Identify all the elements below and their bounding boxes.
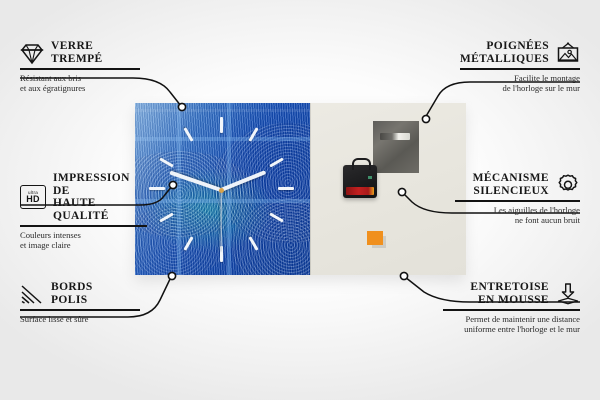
diamond-icon <box>20 41 44 65</box>
feature-divider <box>455 200 580 202</box>
feature-divider <box>20 309 140 311</box>
feature-header: ultra HD IMPRESSION DE HAUTE QUALITÉ <box>20 172 147 222</box>
diagonal-lines-icon <box>20 282 44 306</box>
hour-marker <box>183 127 193 141</box>
feature-desc-line1: Permet de maintenir une distance <box>443 314 580 324</box>
feature-header: POIGNÉES MÉTALLIQUES <box>460 40 580 65</box>
ultra-hd-badge-main: HD <box>26 195 39 204</box>
gear-icon <box>556 173 580 197</box>
feature-entretoise-en-mousse: ENTRETOISE EN MOUSSE Permet de maintenir… <box>443 281 580 334</box>
feature-desc-line2: et aux égratignures <box>20 83 140 93</box>
feature-title-line2: TREMPÉ <box>51 53 103 66</box>
feature-divider <box>20 225 147 227</box>
feature-title-line1: POIGNÉES <box>460 40 549 53</box>
feature-divider <box>20 68 140 70</box>
feature-divider <box>460 68 580 70</box>
movement-terminal <box>368 176 372 179</box>
hour-hand <box>220 170 266 192</box>
feature-title-line1: VERRE <box>51 40 103 53</box>
feature-header: ENTRETOISE EN MOUSSE <box>443 281 580 306</box>
feature-mecanisme-silencieux: MÉCANISME SILENCIEUX Les aiguilles de l'… <box>455 172 580 225</box>
feature-desc-line1: Les aiguilles de l'horloge <box>455 205 580 215</box>
clock-dial <box>135 103 310 275</box>
feature-title-line2: EN MOUSSE <box>470 294 549 307</box>
clock-front-panel <box>135 103 310 275</box>
feature-title-line2: SILENCIEUX <box>473 185 549 198</box>
hour-marker <box>278 187 294 190</box>
foam-spacer <box>367 231 383 245</box>
feature-title-line1: ENTRETOISE <box>470 281 549 294</box>
feature-title-line1: BORDS <box>51 281 93 294</box>
hanging-loop <box>352 158 371 170</box>
arrow-down-stack-icon <box>556 282 580 306</box>
feature-divider <box>443 309 580 311</box>
metal-hanger-plate <box>373 121 419 173</box>
minute-hand <box>169 171 221 192</box>
hour-marker <box>183 236 193 250</box>
hour-marker <box>159 157 173 167</box>
hour-marker <box>248 236 258 250</box>
framed-picture-hanger-icon <box>556 41 580 65</box>
hour-marker <box>269 212 283 222</box>
feature-header: VERRE TREMPÉ <box>20 40 140 65</box>
clock-back-panel <box>310 103 466 275</box>
hour-marker <box>248 127 258 141</box>
clock-hub <box>219 188 224 193</box>
ultra-hd-badge-icon: ultra HD <box>20 185 46 209</box>
feature-desc-line1: Surface lisse et sûre <box>20 314 140 324</box>
feature-title-line1: MÉCANISME <box>473 172 549 185</box>
second-hand <box>220 190 221 252</box>
feature-desc-line2: de l'horloge sur le mur <box>460 83 580 93</box>
feature-title-line2: HAUTE QUALITÉ <box>53 197 147 222</box>
product-photo <box>135 103 465 275</box>
feature-desc-line2: uniforme entre l'horloge et le mur <box>443 324 580 334</box>
battery <box>346 187 374 195</box>
hour-marker <box>159 212 173 222</box>
feature-desc-line1: Résistant aux bris <box>20 73 140 83</box>
hour-marker <box>269 157 283 167</box>
feature-header: MÉCANISME SILENCIEUX <box>455 172 580 197</box>
hour-marker <box>149 187 165 190</box>
feature-bords-polis: BORDS POLIS Surface lisse et sûre <box>20 281 140 324</box>
feature-title-line2: POLIS <box>51 294 93 307</box>
feature-desc-line2: et image claire <box>20 240 147 250</box>
feature-header: BORDS POLIS <box>20 281 140 306</box>
clock-movement <box>343 165 377 198</box>
feature-poignees-metalliques: POIGNÉES MÉTALLIQUES Facilite le montage… <box>460 40 580 93</box>
feature-verre-trempe: VERRE TREMPÉ Résistant aux bris et aux é… <box>20 40 140 93</box>
infographic-canvas: VERRE TREMPÉ Résistant aux bris et aux é… <box>0 0 600 400</box>
feature-impression-haute-qualite: ultra HD IMPRESSION DE HAUTE QUALITÉ Cou… <box>20 172 147 250</box>
feature-title-line2: MÉTALLIQUES <box>460 53 549 66</box>
hour-marker <box>220 117 223 133</box>
feature-desc-line1: Facilite le montage <box>460 73 580 83</box>
feature-title-line1: IMPRESSION DE <box>53 172 147 197</box>
feature-desc-line1: Couleurs intenses <box>20 230 147 240</box>
hanger-slot <box>380 133 410 140</box>
feature-desc-line2: ne font aucun bruit <box>455 215 580 225</box>
